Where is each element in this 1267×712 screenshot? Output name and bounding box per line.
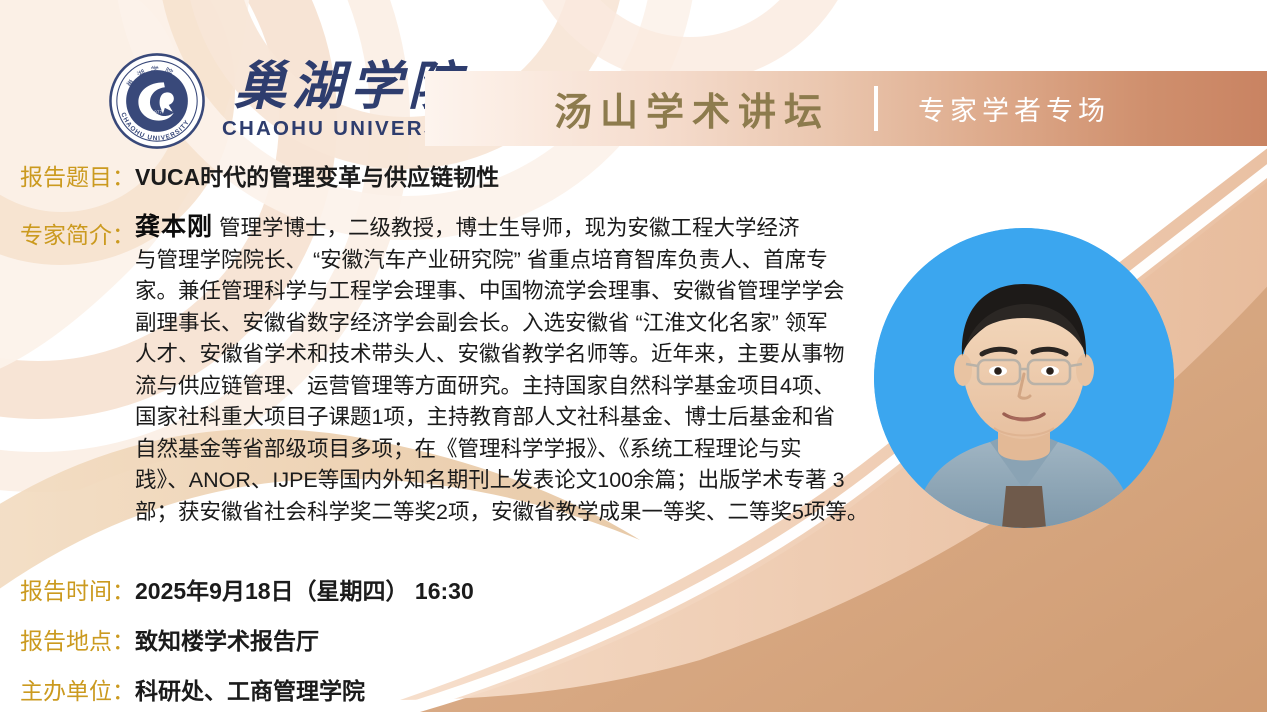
lecture-place-label: 报告地点：	[20, 622, 135, 656]
banner-title: 汤山学术讲坛	[554, 81, 830, 136]
bio-line: 践》、ANOR、IJPE等国内外知名期刊上发表论文100余篇；出版学术专著 3	[135, 465, 868, 497]
banner-divider	[874, 86, 878, 131]
lecture-place-row: 报告地点： 致知楼学术报告厅	[20, 622, 319, 656]
lecture-time-value: 2025年9月18日（星期四） 16:30	[135, 572, 474, 606]
bio-line-text: 管理学博士，二级教授，博士生导师，现为安徽工程大学经济	[213, 216, 799, 240]
lecture-place-value: 致知楼学术报告厅	[135, 622, 319, 656]
poster-header: 1977 巢湖学院 CHAOHU UNIVERSITY 巢湖学院 CHAOHU …	[0, 0, 1267, 150]
lecture-host-label: 主办单位：	[20, 672, 135, 706]
bio-line: 家。兼任管理科学与工程学会理事、中国物流学会理事、安徽省管理学学会	[135, 276, 868, 308]
bio-line: 副理事长、安徽省数字经济学会副会长。入选安徽省 “江淮文化名家” 领军	[135, 308, 868, 340]
university-logo: 1977 巢湖学院 CHAOHU UNIVERSITY 巢湖学院 CHAOHU …	[108, 52, 478, 150]
bio-line: 人才、安徽省学术和技术带头人、安徽省教学名师等。近年来，主要从事物	[135, 339, 868, 371]
bio-line: 自然基金等省部级项目多项；在《管理科学学报》、《系统工程理论与实	[135, 434, 868, 466]
banner-subtitle: 专家学者专场	[918, 89, 1110, 128]
speaker-bio-body: 龚本刚 管理学博士，二级教授，博士生导师，现为安徽工程大学经济 与管理学院院长、…	[135, 212, 868, 528]
chaohu-university-seal-icon: 1977 巢湖学院 CHAOHU UNIVERSITY	[108, 52, 206, 150]
poster-canvas: 1977 巢湖学院 CHAOHU UNIVERSITY 巢湖学院 CHAOHU …	[0, 0, 1267, 712]
forum-banner: 汤山学术讲坛 专家学者专场	[425, 71, 1267, 146]
lecture-title-value: VUCA时代的管理变革与供应链韧性	[135, 158, 499, 192]
lecture-host-value: 科研处、工商管理学院	[135, 672, 365, 706]
speaker-photo-illustration	[874, 228, 1174, 528]
speaker-name: 龚本刚	[135, 213, 213, 241]
speaker-bio-row: 专家简介： 龚本刚 管理学博士，二级教授，博士生导师，现为安徽工程大学经济 与管…	[20, 212, 868, 528]
bio-line: 与管理学院院长、 “安徽汽车产业研究院” 省重点培育智库负责人、首席专	[135, 245, 868, 277]
lecture-host-row: 主办单位： 科研处、工商管理学院	[20, 672, 365, 706]
speaker-bio-label: 专家简介：	[20, 212, 135, 250]
lecture-title-row: 报告题目： VUCA时代的管理变革与供应链韧性	[20, 158, 499, 192]
lecture-time-label: 报告时间：	[20, 572, 135, 606]
svg-text:1977: 1977	[152, 110, 163, 115]
bio-line: 部；获安徽省社会科学奖二等奖2项，安徽省教学成果一等奖、二等奖5项等。	[135, 497, 868, 529]
speaker-portrait	[874, 228, 1174, 528]
lecture-time-row: 报告时间： 2025年9月18日（星期四） 16:30	[20, 572, 474, 606]
bio-line: 流与供应链管理、运营管理等方面研究。主持国家自然科学基金项目4项、	[135, 371, 868, 403]
lecture-title-label: 报告题目：	[20, 158, 135, 192]
bio-line: 龚本刚 管理学博士，二级教授，博士生导师，现为安徽工程大学经济	[135, 212, 868, 245]
bio-line: 国家社科重大项目子课题1项，主持教育部人文社科基金、博士后基金和省	[135, 402, 868, 434]
